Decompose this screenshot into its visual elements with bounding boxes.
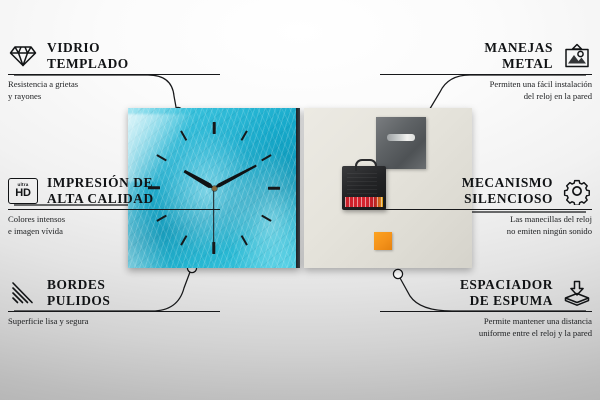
mechanism-label: [345, 197, 383, 207]
clock-tick-4: [261, 215, 272, 222]
clock-tick-2: [261, 154, 272, 161]
feature-description: Superficie lisa y segura: [8, 315, 220, 327]
ultra-hd-badge: ultra HD: [8, 178, 38, 204]
diamond-icon: [8, 41, 38, 71]
polished-edge-icon: [8, 278, 38, 308]
feature-description: Permite mantener una distancia uniforme …: [380, 315, 592, 339]
feature-header: ESPACIADOR DE ESPUMA: [380, 277, 592, 308]
feature-bordes-pulidos: BORDES PULIDOS Superficie lisa y segura: [8, 277, 220, 327]
feature-title: ESPACIADOR DE ESPUMA: [460, 277, 553, 308]
feature-divider: [8, 74, 220, 75]
feature-divider: [380, 74, 592, 75]
ultra-hd-large-text: HD: [15, 188, 31, 199]
clock-tick-1: [241, 130, 248, 141]
clock-tick-5: [241, 235, 248, 246]
feature-vidrio-templado: VIDRIO TEMPLADO Resistencia a grietas y …: [8, 40, 220, 103]
metal-hanger-plate: [376, 117, 426, 169]
product-infographic: VIDRIO TEMPLADO Resistencia a grietas y …: [0, 0, 600, 400]
feature-description: Permiten una fácil instalación del reloj…: [380, 78, 592, 102]
feature-title: MECANISMO SILENCIOSO: [462, 175, 553, 206]
clock-panel-edge: [296, 108, 300, 268]
feature-title: BORDES PULIDOS: [47, 277, 110, 308]
mechanism-label-text: [345, 197, 383, 207]
mechanism-body-texture: [347, 172, 377, 194]
feature-mecanismo-silencioso: MECANISMO SILENCIOSO Las manecillas del …: [380, 175, 592, 238]
feature-title: VIDRIO TEMPLADO: [47, 40, 129, 71]
feature-description: Las manecillas del reloj no emiten ningú…: [380, 213, 592, 237]
feature-divider: [8, 311, 220, 312]
feature-divider: [380, 209, 592, 210]
clock-tick-3: [268, 187, 280, 190]
hanger-slot: [387, 134, 415, 141]
clock-tick-10: [156, 154, 167, 161]
feature-espaciador-espuma: ESPACIADOR DE ESPUMA Permite mantener un…: [380, 277, 592, 340]
mechanism-hanger-loop: [355, 159, 377, 171]
feature-description: Resistencia a grietas y rayones: [8, 78, 220, 102]
gear-icon: [562, 176, 592, 206]
feature-header: MANEJAS METAL: [380, 40, 592, 71]
clock-tick-12: [213, 122, 216, 134]
feature-divider: [380, 311, 592, 312]
ultra-hd-icon: ultra HD: [8, 176, 38, 206]
clock-tick-11: [180, 130, 187, 141]
feature-impresion-alta-calidad: ultra HD IMPRESIÓN DE ALTA CALIDAD Color…: [8, 175, 220, 238]
feature-divider: [8, 209, 220, 210]
feature-header: BORDES PULIDOS: [8, 277, 220, 308]
feature-manejas-metal: MANEJAS METAL Permiten una fácil instala…: [380, 40, 592, 103]
feature-title: MANEJAS METAL: [484, 40, 553, 71]
foam-spacer-arrow-icon: [562, 278, 592, 308]
feature-header: VIDRIO TEMPLADO: [8, 40, 220, 71]
feature-header: ultra HD IMPRESIÓN DE ALTA CALIDAD: [8, 175, 220, 206]
feature-title: IMPRESIÓN DE ALTA CALIDAD: [47, 175, 154, 206]
feature-description: Colores intensos e imagen vívida: [8, 213, 220, 237]
feature-header: MECANISMO SILENCIOSO: [380, 175, 592, 206]
picture-frame-hanger-icon: [562, 41, 592, 71]
